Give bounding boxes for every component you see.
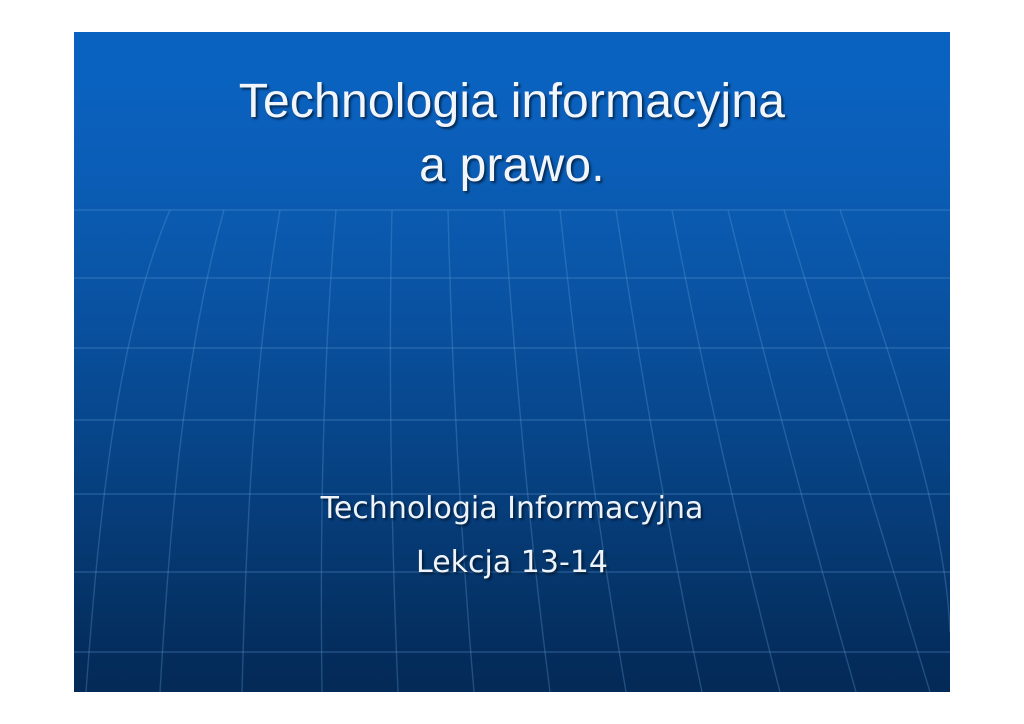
subtitle-line-2: Lekcja 13-14 — [74, 536, 950, 590]
slide-background: Technologia informacyjna a prawo. Techno… — [74, 32, 950, 692]
slide-title: Technologia informacyjna a prawo. — [74, 70, 950, 198]
title-line-2: a prawo. — [74, 134, 950, 198]
title-line-1: Technologia informacyjna — [74, 70, 950, 134]
slide-page: Technologia informacyjna a prawo. Techno… — [0, 0, 1024, 724]
slide-subtitle: Technologia Informacyjna Lekcja 13-14 — [74, 482, 950, 590]
subtitle-line-1: Technologia Informacyjna — [74, 482, 950, 536]
